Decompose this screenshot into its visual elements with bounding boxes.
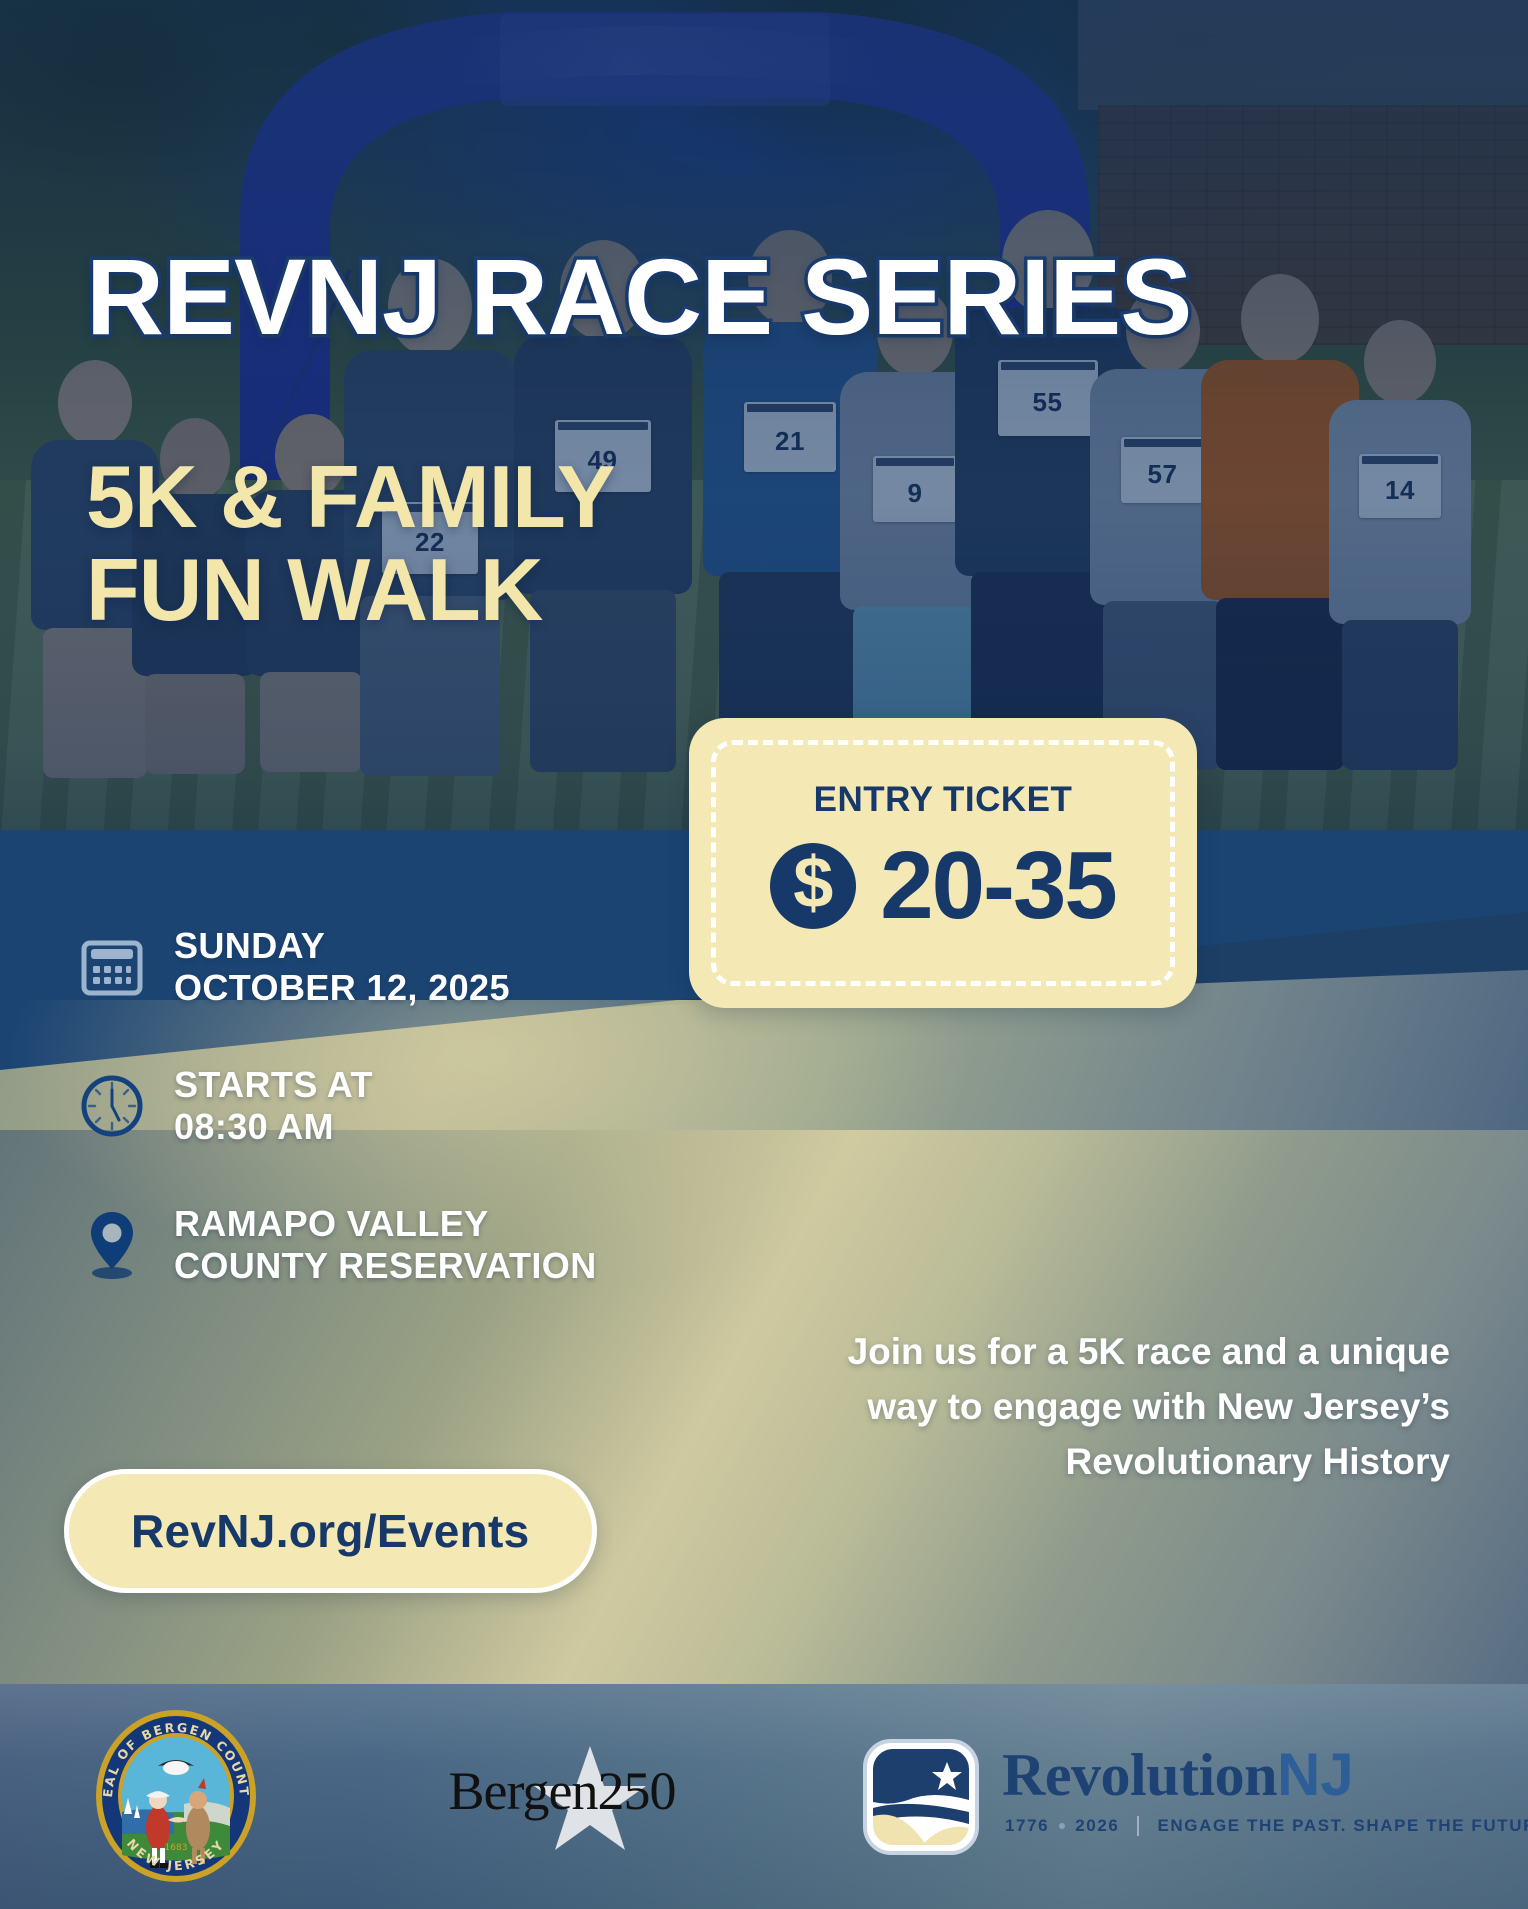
separator-dot-icon bbox=[1059, 1823, 1065, 1829]
bergen-word: Bergen bbox=[449, 1761, 598, 1821]
year-end: 2026 bbox=[1075, 1816, 1119, 1836]
revolution-word: Revolution bbox=[1002, 1742, 1277, 1808]
sponsor-logos: 1683 SEAL OF BERGEN COUNTY NEW JERSEY Be… bbox=[0, 1684, 1528, 1909]
revolutionnj-mark-icon bbox=[862, 1738, 980, 1856]
bergen250-logo: Bergen250 bbox=[412, 1742, 712, 1852]
year-start: 1776 bbox=[1005, 1816, 1049, 1836]
entry-ticket-card: ENTRY TICKET $ 20-35 bbox=[689, 718, 1197, 1008]
event-details-list: SUNDAY OCTOBER 12, 2025 bbox=[76, 925, 736, 1342]
calendar-icon bbox=[76, 931, 148, 1003]
revolutionnj-tagline-row: 1776 2026 ENGAGE THE PAST. SHAPE THE FUT… bbox=[1005, 1816, 1528, 1836]
detail-text-time: STARTS AT 08:30 AM bbox=[174, 1064, 373, 1149]
time-line-2: 08:30 AM bbox=[174, 1106, 373, 1148]
date-line-1: SUNDAY bbox=[174, 925, 325, 966]
race-flyer-poster: 22 49 21 bbox=[0, 0, 1528, 1909]
event-description: Join us for a 5K race and a unique way t… bbox=[830, 1325, 1450, 1489]
ticket-price-value: 20-35 bbox=[880, 838, 1116, 934]
detail-row-location: RAMAPO VALLEY COUNTY RESERVATION bbox=[76, 1203, 736, 1288]
subtitle-line-2: FUN WALK bbox=[86, 540, 542, 639]
location-line-1: RAMAPO VALLEY bbox=[174, 1203, 489, 1244]
bergen-county-seal-logo: 1683 SEAL OF BERGEN COUNTY NEW JERSEY bbox=[88, 1708, 264, 1884]
location-line-2: COUNTY RESERVATION bbox=[174, 1245, 597, 1287]
page-subtitle: 5K & FAMILY FUN WALK bbox=[86, 450, 615, 637]
revolutionnj-logo: RevolutionNJ 1776 2026 ENGAGE THE PAST. … bbox=[862, 1730, 1432, 1862]
bergen-number: 250 bbox=[597, 1761, 675, 1821]
location-pin-icon bbox=[76, 1209, 148, 1281]
detail-row-date: SUNDAY OCTOBER 12, 2025 bbox=[76, 925, 736, 1010]
detail-text-date: SUNDAY OCTOBER 12, 2025 bbox=[174, 925, 510, 1010]
time-line-1: STARTS AT bbox=[174, 1064, 373, 1105]
bergen250-wordmark: Bergen250 bbox=[412, 1760, 712, 1822]
ticket-price-row: $ 20-35 bbox=[689, 838, 1197, 934]
date-line-2: OCTOBER 12, 2025 bbox=[174, 967, 510, 1009]
revolutionnj-wordmark: RevolutionNJ bbox=[1002, 1740, 1354, 1810]
ticket-label: ENTRY TICKET bbox=[689, 780, 1197, 820]
detail-row-time: STARTS AT 08:30 AM bbox=[76, 1064, 736, 1149]
detail-text-location: RAMAPO VALLEY COUNTY RESERVATION bbox=[174, 1203, 597, 1288]
tagline-text: ENGAGE THE PAST. SHAPE THE FUTURE. bbox=[1157, 1816, 1528, 1836]
nj-word: NJ bbox=[1277, 1741, 1354, 1808]
separator-bar-icon bbox=[1137, 1816, 1139, 1836]
subtitle-line-1: 5K & FAMILY bbox=[86, 447, 615, 546]
svg-text:1683: 1683 bbox=[165, 1843, 188, 1853]
website-cta-button[interactable]: RevNJ.org/Events bbox=[64, 1469, 597, 1593]
clock-icon bbox=[76, 1070, 148, 1142]
page-title: REVNJ RACE SERIES bbox=[86, 243, 1191, 351]
dollar-sign-icon: $ bbox=[770, 843, 856, 929]
